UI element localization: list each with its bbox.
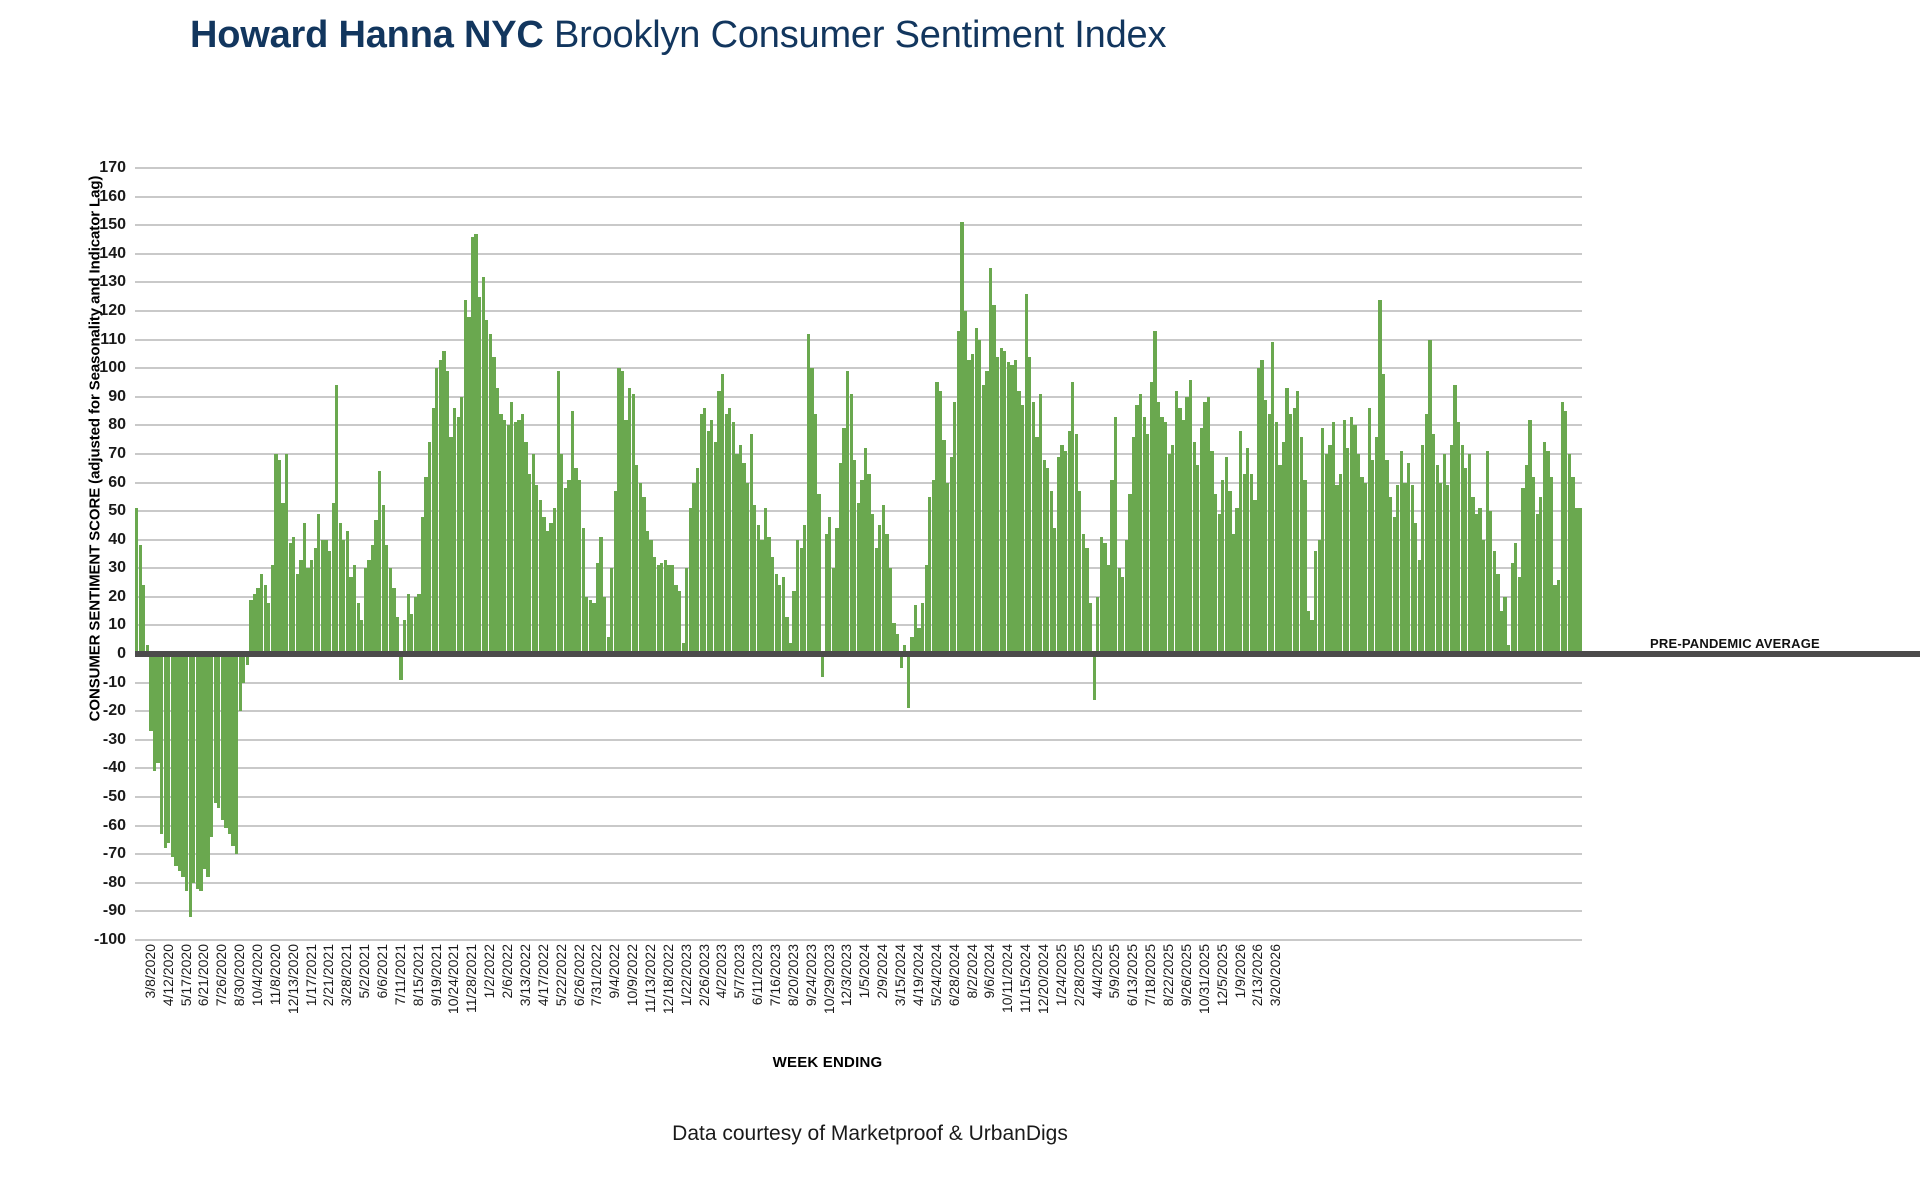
- x-tick-label: 8/20/2023: [785, 944, 801, 1006]
- y-tick-label: 60: [60, 474, 126, 492]
- bar: [1578, 508, 1581, 654]
- x-axis-tick-labels: 3/8/20204/12/20205/17/20206/21/20207/26/…: [135, 944, 1582, 1054]
- x-tick-label: 11/13/2022: [642, 944, 658, 1013]
- y-tick-label: 80: [60, 416, 126, 434]
- bar: [907, 654, 910, 708]
- x-tick-label: 1/9/2026: [1232, 944, 1248, 999]
- y-tick-label: -10: [60, 674, 126, 692]
- y-tick-label: -90: [60, 902, 126, 920]
- y-tick-label: -30: [60, 731, 126, 749]
- x-tick-label: 10/9/2022: [624, 944, 640, 1006]
- y-tick-label: 110: [60, 331, 126, 349]
- y-tick-label: 120: [60, 302, 126, 320]
- bar-series: [135, 168, 1582, 940]
- x-tick-label: 5/7/2023: [731, 944, 747, 999]
- x-tick-label: 10/24/2021: [445, 944, 461, 1014]
- y-tick-label: -20: [60, 702, 126, 720]
- bar: [1093, 654, 1096, 700]
- x-tick-label: 8/15/2021: [410, 944, 426, 1006]
- x-tick-label: 11/8/2020: [267, 944, 283, 1005]
- x-tick-label: 2/21/2021: [320, 944, 336, 1006]
- x-tick-label: 9/4/2022: [606, 944, 622, 999]
- x-tick-label: 6/26/2022: [571, 944, 587, 1006]
- x-tick-label: 12/5/2025: [1214, 944, 1230, 1006]
- x-tick-label: 12/13/2020: [285, 944, 301, 1014]
- x-tick-label: 7/18/2025: [1142, 944, 1158, 1006]
- y-tick-label: 100: [60, 359, 126, 377]
- x-tick-label: 11/28/2021: [463, 944, 479, 1013]
- x-tick-label: 10/31/2025: [1196, 944, 1212, 1014]
- x-tick-label: 12/3/2023: [838, 944, 854, 1006]
- x-tick-label: 8/2/2024: [964, 944, 980, 999]
- x-tick-label: 4/12/2020: [160, 944, 176, 1006]
- x-axis-title: WEEK ENDING: [0, 1054, 1655, 1071]
- y-tick-label: 20: [60, 588, 126, 606]
- y-tick-label: 140: [60, 245, 126, 263]
- x-tick-label: 7/31/2022: [588, 944, 604, 1006]
- y-tick-label: 90: [60, 388, 126, 406]
- x-tick-label: 9/6/2024: [981, 944, 997, 999]
- x-tick-label: 9/26/2025: [1178, 944, 1194, 1006]
- x-tick-label: 6/28/2024: [946, 944, 962, 1006]
- y-tick-label: -80: [60, 874, 126, 892]
- x-tick-label: 1/22/2023: [678, 944, 694, 1006]
- x-tick-label: 5/24/2024: [928, 944, 944, 1006]
- y-tick-label: 160: [60, 188, 126, 206]
- bar: [1089, 603, 1092, 654]
- y-tick-label: 40: [60, 531, 126, 549]
- x-tick-label: 5/9/2025: [1106, 944, 1122, 999]
- y-tick-label: 150: [60, 216, 126, 234]
- bar: [142, 585, 145, 654]
- x-tick-label: 11/15/2024: [1017, 944, 1033, 1013]
- x-tick-label: 4/2/2023: [713, 944, 729, 999]
- bar: [396, 617, 399, 654]
- pre-pandemic-average-label: PRE-PANDEMIC AVERAGE: [1650, 636, 1820, 651]
- y-tick-label: -100: [60, 931, 126, 949]
- x-tick-label: 6/11/2023: [749, 944, 765, 1005]
- x-tick-label: 5/22/2022: [553, 944, 569, 1006]
- x-tick-label: 10/4/2020: [249, 944, 265, 1006]
- y-tick-label: -70: [60, 845, 126, 863]
- x-tick-label: 7/11/2021: [392, 944, 408, 1005]
- x-tick-label: 2/6/2022: [499, 944, 515, 999]
- x-tick-label: 2/26/2023: [696, 944, 712, 1006]
- y-tick-label: 50: [60, 502, 126, 520]
- y-tick-label: 10: [60, 616, 126, 634]
- x-tick-label: 8/30/2020: [231, 944, 247, 1006]
- x-tick-label: 2/28/2025: [1071, 944, 1087, 1006]
- x-tick-label: 1/5/2024: [856, 944, 872, 999]
- x-tick-label: 9/19/2021: [428, 944, 444, 1006]
- x-tick-label: 7/26/2020: [213, 944, 229, 1006]
- x-tick-label: 5/17/2020: [178, 944, 194, 1006]
- x-tick-label: 3/28/2021: [338, 944, 354, 1006]
- x-tick-label: 6/13/2025: [1124, 944, 1140, 1006]
- x-tick-label: 10/29/2023: [821, 944, 837, 1014]
- x-tick-label: 2/9/2024: [874, 944, 890, 999]
- bar: [821, 654, 824, 677]
- y-tick-label: 170: [60, 159, 126, 177]
- x-tick-label: 6/21/2020: [195, 944, 211, 1006]
- x-tick-label: 3/15/2024: [892, 944, 908, 1006]
- sentiment-bar-chart: CONSUMER SENTIMENT SCORE (adjusted for S…: [0, 0, 1920, 1187]
- y-tick-label: -40: [60, 759, 126, 777]
- x-tick-label: 4/19/2024: [910, 944, 926, 1006]
- x-tick-label: 1/17/2021: [303, 944, 319, 1006]
- y-tick-label: 70: [60, 445, 126, 463]
- x-tick-label: 10/11/2024: [999, 944, 1015, 1013]
- bar: [399, 654, 402, 680]
- y-tick-label: 130: [60, 273, 126, 291]
- x-tick-label: 5/2/2021: [356, 944, 372, 999]
- x-tick-label: 4/17/2022: [535, 944, 551, 1006]
- data-source-note: Data courtesy of Marketproof & UrbanDigs: [0, 1122, 1740, 1146]
- pre-pandemic-average-line: [135, 651, 1920, 657]
- y-tick-label: 30: [60, 559, 126, 577]
- x-tick-label: 6/6/2021: [374, 944, 390, 999]
- x-tick-label: 1/24/2025: [1053, 944, 1069, 1006]
- plot-area: [135, 168, 1582, 940]
- x-tick-label: 12/18/2022: [660, 944, 676, 1014]
- bar: [817, 494, 820, 654]
- y-tick-label: -50: [60, 788, 126, 806]
- x-tick-label: 9/24/2023: [803, 944, 819, 1006]
- y-tick-label: 0: [60, 645, 126, 663]
- x-tick-label: 3/20/2026: [1267, 944, 1283, 1006]
- x-tick-label: 4/4/2025: [1089, 944, 1105, 999]
- x-tick-label: 7/16/2023: [767, 944, 783, 1006]
- x-tick-label: 2/13/2026: [1249, 944, 1265, 1006]
- x-tick-label: 3/13/2022: [517, 944, 533, 1006]
- x-tick-label: 1/2/2022: [481, 944, 497, 999]
- x-tick-label: 3/8/2020: [142, 944, 158, 999]
- y-tick-label: -60: [60, 817, 126, 835]
- x-tick-label: 8/22/2025: [1160, 944, 1176, 1006]
- y-axis-tick-labels: 1701601501401301201101009080706050403020…: [60, 168, 126, 940]
- x-tick-label: 12/20/2024: [1035, 944, 1051, 1014]
